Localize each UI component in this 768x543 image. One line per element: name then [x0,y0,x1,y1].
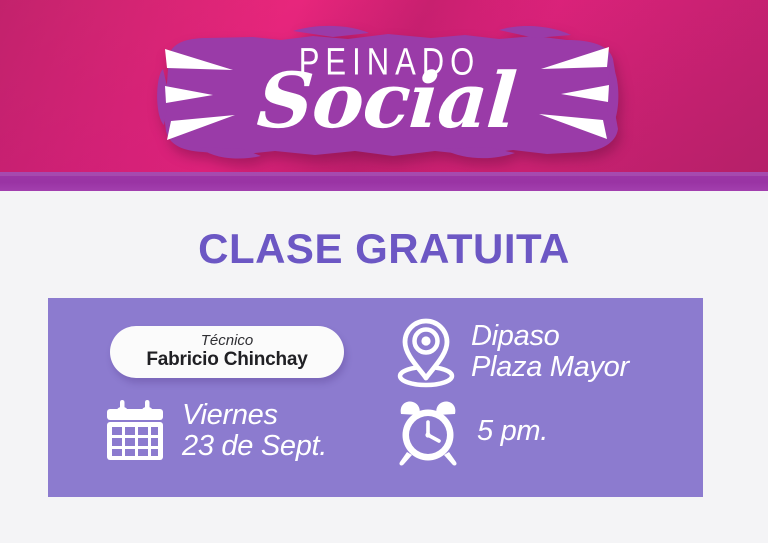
date-line-2: 23 de Sept. [182,431,327,462]
detail-time: 5 pm. [395,398,548,466]
calendar-icon [104,398,166,464]
alarm-clock-icon [395,398,461,466]
location-line-1: Dipaso [471,321,629,352]
brush-badge [143,25,630,165]
location-pin-icon [395,316,457,388]
presenter-pill: Técnico Fabricio Chinchay [110,326,344,378]
date-line-1: Viernes [182,400,327,431]
poster: PEINADO Social CLASE GRATUITA Técnico Fa… [0,0,768,543]
presenter-name: Fabricio Chinchay [146,349,307,371]
time-value: 5 pm. [477,416,548,447]
presenter-role: Técnico [201,333,254,349]
location-line-2: Plaza Mayor [471,352,629,383]
detail-date: Viernes 23 de Sept. [104,398,327,464]
detail-location: Dipaso Plaza Mayor [395,316,629,388]
info-panel: Técnico Fabricio Chinchay Dipaso Plaza M… [48,298,703,497]
brush-badge-shape [143,25,630,165]
page-title: CLASE GRATUITA [0,228,768,270]
divider-highlight [0,172,768,176]
